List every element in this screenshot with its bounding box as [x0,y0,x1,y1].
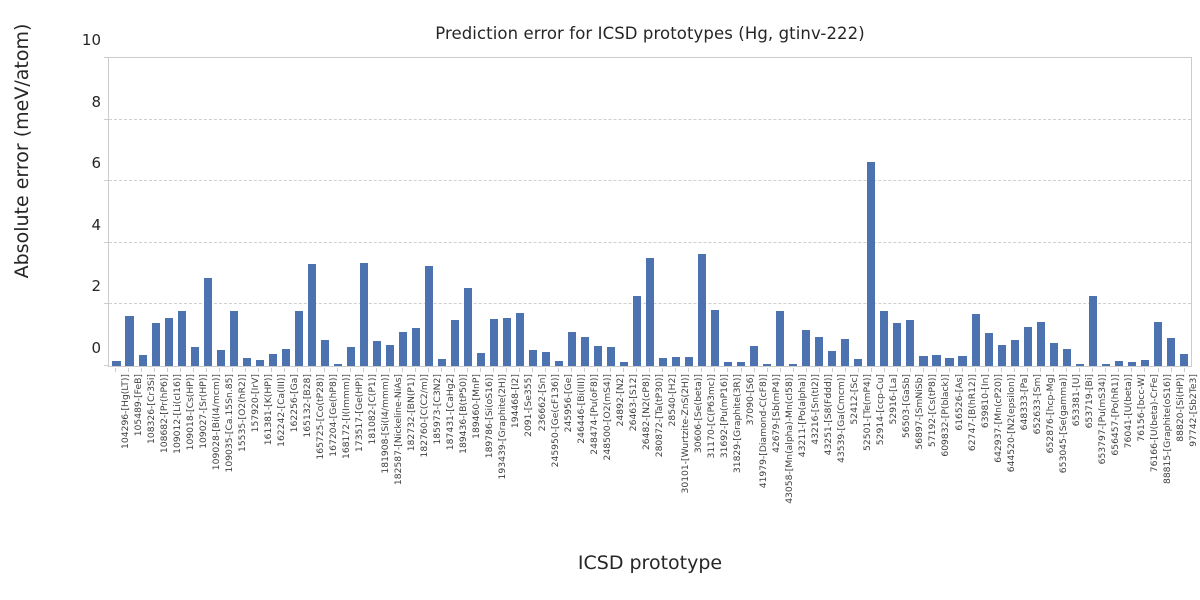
x-tick-mark [832,368,833,372]
bar[interactable] [1024,327,1032,366]
bar-slot [253,58,266,366]
x-tick [1112,368,1125,370]
bar-slot [1073,58,1086,366]
x-tick-mark [1158,368,1159,372]
bar[interactable] [1076,364,1084,366]
x-tick-label-slot: 648333-[Pa] [1008,374,1021,544]
bar[interactable] [516,313,524,366]
x-tick-label-slot: 31692-[Pu(mP16)] [708,374,721,544]
x-tick [1008,368,1021,370]
bar-slot [839,58,852,366]
x-tick-mark [636,368,637,372]
x-tick-mark [845,368,846,372]
bar[interactable] [607,347,615,366]
x-tick [304,368,317,370]
x-tick-mark [884,368,885,372]
x-tick-mark [806,368,807,372]
x-tick-mark [571,368,572,372]
bar-slot [800,58,813,366]
bar-slot [461,58,474,366]
x-tick-mark [988,368,989,372]
x-tick-mark [1040,368,1041,372]
bar[interactable] [750,346,758,366]
bar-slot [318,58,331,366]
x-tick-label-slot: 173517-[Ge(HP)] [344,374,357,544]
x-tick-mark [610,368,611,372]
bar[interactable] [802,330,810,366]
bar[interactable] [373,341,381,366]
bar-slot [956,58,969,366]
x-tick-label-slot: 52914-[ccp-Cu] [865,374,878,544]
bar[interactable] [217,350,225,366]
bar-slot [670,58,683,366]
bar[interactable] [581,337,589,366]
x-tick [1047,368,1060,370]
x-tick-mark [350,368,351,372]
bar[interactable] [555,361,563,366]
bar-slot [396,58,409,366]
x-tick-label-slot: 43216-[Sn(tI2)] [800,374,813,544]
bar-slot [943,58,956,366]
bar[interactable] [724,362,732,366]
x-tick-label-slot: 248474-[Pu(oF8)] [578,374,591,544]
x-tick-label-slot: 97742-[Sb2Te3] [1178,374,1191,544]
bar[interactable] [295,311,303,366]
bar-slot [123,58,136,366]
x-tick [761,368,774,370]
x-tick-label-slot: 26463-[S12] [617,374,630,544]
bar-slot [540,58,553,366]
bar-slot [761,58,774,366]
x-tick-label-slot: 167204-[Ge(hP8)] [318,374,331,544]
bar[interactable] [1089,296,1097,366]
x-tick [513,368,526,370]
x-tick-label-slot: 76166-[U(beta)-CrFe] [1138,374,1151,544]
bar[interactable] [1167,338,1175,366]
x-tick-mark [701,368,702,372]
bar-slot [344,58,357,366]
bar-slot [1177,58,1190,366]
bar[interactable] [269,354,277,366]
x-tick [487,368,500,370]
bar[interactable] [1141,360,1149,366]
bar[interactable] [932,355,940,366]
x-tick-mark [389,368,390,372]
bar-slot [214,58,227,366]
bar[interactable] [620,362,628,366]
x-tick-mark [337,368,338,372]
bar[interactable] [1128,362,1136,366]
bar[interactable] [893,323,901,366]
x-tick-label-slot: 161381-[K(HP)] [252,374,265,544]
x-tick-mark [1144,368,1145,372]
x-tick [969,368,982,370]
bar-slot [813,58,826,366]
x-tick-mark [297,368,298,372]
bar[interactable] [854,359,862,366]
bar[interactable] [282,349,290,366]
bar[interactable] [711,310,719,366]
bar[interactable] [815,337,823,366]
x-tick-label-slot: 246446-[Bi(III)] [565,374,578,544]
bar-series [109,58,1191,366]
bar[interactable] [399,332,407,366]
x-tick [682,368,695,370]
bar[interactable] [360,263,368,366]
bar[interactable] [698,254,706,366]
x-tick-label-slot: 56897-[SmNiSb] [904,374,917,544]
bar-slot [383,58,396,366]
x-axis-tick-labels: 104296-[Hg(LT)]105489-[FeB]108326-[Cr3Si… [108,374,1192,544]
x-tick-label-slot: 162242-[Ca(III)] [265,374,278,544]
y-tick-label-2: 2 [61,277,101,295]
x-tick-label-slot: 157920-[IrV] [239,374,252,544]
bar[interactable] [958,356,966,366]
x-tick-mark [519,368,520,372]
chart-title: Prediction error for ICSD prototypes (Hg… [108,24,1192,43]
x-tick [787,368,800,370]
x-tick-label-slot: 653381-[U] [1060,374,1073,544]
x-tick-label-slot: 652876-[hcp-Mg] [1034,374,1047,544]
x-tick [995,368,1008,370]
x-tick-label-slot: 30101-[Wurtzite-ZnS(2H)] [669,374,682,544]
bar[interactable] [1154,322,1162,366]
x-tick [435,368,448,370]
bar[interactable] [1037,322,1045,366]
bar[interactable] [529,350,537,366]
x-tick [174,368,187,370]
x-tick [852,368,865,370]
bar[interactable] [542,352,550,366]
x-tick [500,368,513,370]
x-tick-label-slot: 2091-[Se355] [513,374,526,544]
bar[interactable] [347,347,355,366]
x-tick-mark [949,368,950,372]
x-tick [891,368,904,370]
x-tick [930,368,943,370]
x-tick-mark [532,368,533,372]
x-tick-label-slot: 76156-[bcc-W] [1125,374,1138,544]
x-tick-label-slot: 168172-[I(Immm)] [331,374,344,544]
x-tick [291,368,304,370]
bar[interactable] [985,333,993,366]
x-tick-label-slot: 185973-[C3N2] [422,374,435,544]
bar[interactable] [464,288,472,366]
x-tick-mark [480,368,481,372]
x-tick [278,368,291,370]
bar[interactable] [685,357,693,366]
bar[interactable] [191,347,199,366]
bar[interactable] [1102,364,1110,366]
x-tick [800,368,813,370]
x-tick-label-slot: 30606-[Se(beta)] [682,374,695,544]
bar[interactable] [256,360,264,366]
bar-slot [930,58,943,366]
x-tick-label-slot: 187431-[CaHg2] [435,374,448,544]
x-tick-label-slot: 189460-[MnP] [461,374,474,544]
bar[interactable] [737,362,745,366]
bar-slot [435,58,448,366]
x-tick [1086,368,1099,370]
x-tick-mark [871,368,872,372]
x-tick-label-slot: 181908-[Si(I4/mmm)] [370,374,383,544]
bar[interactable] [906,320,914,366]
bar-slot [1164,58,1177,366]
x-tick-label-slot: 43539-[Ga(Cmcm)] [826,374,839,544]
y-tick-label-4: 4 [61,216,101,234]
bar-slot [136,58,149,366]
x-tick-label-slot: 52501-[Te(mP4)] [852,374,865,544]
bar[interactable] [321,340,329,366]
bar-slot [513,58,526,366]
bar[interactable] [919,356,927,366]
x-tick [1165,368,1178,370]
x-tick-mark [141,368,142,372]
x-tick [591,368,604,370]
bar[interactable] [633,296,641,366]
x-tick-label-slot: 37090-[S6] [735,374,748,544]
bar[interactable] [646,258,654,366]
x-tick-label-slot: 43251-[S8(Fddd)] [813,374,826,544]
bar[interactable] [998,345,1006,366]
x-tick [617,368,630,370]
x-tick-mark [923,368,924,372]
x-tick-label-slot: 193439-[Graphite(2H)] [487,374,500,544]
x-tick-label-slot: 109012-[Li(cI16)] [161,374,174,544]
x-tick-mark [727,368,728,372]
bar[interactable] [438,359,446,366]
bar[interactable] [1050,343,1058,366]
bar-slot [878,58,891,366]
bar-slot [605,58,618,366]
x-tick [813,368,826,370]
x-tick-label-slot: 57192-[Cs(tP8)] [917,374,930,544]
x-tick-mark [936,368,937,372]
x-tick-mark [649,368,650,372]
x-axis-ticks [108,368,1192,370]
x-tick-label-slot: 108682-[Pr(hP6)] [148,374,161,544]
x-tick-label-slot: 31170-[C(P63mc)] [695,374,708,544]
x-tick-mark [1001,368,1002,372]
x-tick-mark [180,368,181,372]
x-tick-mark [115,368,116,372]
x-tick [1138,368,1151,370]
x-tick [122,368,135,370]
bar[interactable] [477,353,485,366]
x-tick [148,368,161,370]
y-tick-label-0: 0 [61,339,101,357]
x-tick [826,368,839,370]
x-tick-label-slot: 104296-[Hg(LT)] [109,374,122,544]
bar[interactable] [945,358,953,366]
bar-slot [592,58,605,366]
x-tick [943,368,956,370]
x-tick-mark [545,368,546,372]
bar-slot [240,58,253,366]
x-tick-label-slot: 616526-[As] [943,374,956,544]
x-tick [422,368,435,370]
x-tick-mark [1079,368,1080,372]
bar[interactable] [451,320,459,366]
bar[interactable] [412,328,420,367]
x-tick-label-slot: 236662-[Sn] [526,374,539,544]
x-tick-label-slot: 162256-[Ga] [278,374,291,544]
bar[interactable] [308,264,316,366]
x-tick-label-slot: 194468-[I2] [500,374,513,544]
bar[interactable] [165,318,173,366]
x-tick [161,368,174,370]
x-tick-mark [284,368,285,372]
bar[interactable] [828,351,836,366]
x-tick-mark [193,368,194,372]
bar[interactable] [594,346,602,366]
x-tick-mark [232,368,233,372]
bar[interactable] [1180,354,1188,366]
bar-slot [175,58,188,366]
x-tick-mark [754,368,755,372]
bar-slot [995,58,1008,366]
bar[interactable] [789,364,797,366]
x-tick-label-slot: 109027-[Sr(HP)] [187,374,200,544]
bar[interactable] [334,364,342,366]
bar[interactable] [568,332,576,366]
bar-slot [774,58,787,366]
x-tick [1034,368,1047,370]
bar-slot [474,58,487,366]
bar-slot [1112,58,1125,366]
bar-slot [657,58,670,366]
x-tick-mark [1171,368,1172,372]
bar[interactable] [490,319,498,366]
bar[interactable] [125,316,133,366]
x-tick [604,368,617,370]
x-tick-label-slot: 248500-[O2(mS4)] [591,374,604,544]
bar-slot [1125,58,1138,366]
bar-slot [1060,58,1073,366]
x-tick-mark [428,368,429,372]
x-tick [252,368,265,370]
bar-slot [696,58,709,366]
bar[interactable] [425,266,433,366]
x-tick [383,368,396,370]
x-tick [448,368,461,370]
x-tick-label-slot: 652633-[Sm] [1021,374,1034,544]
bar[interactable] [841,339,849,366]
bar[interactable] [1011,340,1019,366]
bar[interactable] [672,357,680,366]
x-tick [904,368,917,370]
bar-slot [852,58,865,366]
bar[interactable] [152,323,160,366]
x-tick-mark [1014,368,1015,372]
bar[interactable] [867,162,875,366]
bar[interactable] [112,361,120,366]
x-tick-mark [1066,368,1067,372]
x-tick-mark [975,368,976,372]
x-tick-label-slot: 24892-[N2] [604,374,617,544]
x-tick-mark [324,368,325,372]
x-tick-mark [271,368,272,372]
x-tick [1099,368,1112,370]
x-tick [565,368,578,370]
x-tick-mark [167,368,168,372]
bar-slot [162,58,175,366]
x-tick-mark [910,368,911,372]
bar-slot [566,58,579,366]
x-tick-label-slot: 182760-[C(C2/m)] [409,374,422,544]
x-tick-mark [206,368,207,372]
x-tick-label-slot: 656457-[Po(hR1)] [1099,374,1112,544]
x-tick-label-slot: 88820-[Si(HP)] [1165,374,1178,544]
bar-slot [1086,58,1099,366]
x-tick-label-slot: 653797-[Pu(mS34)] [1086,374,1099,544]
bar[interactable] [659,358,667,366]
x-tick-label-slot: 76041-[U(beta)] [1112,374,1125,544]
bar[interactable] [204,278,212,366]
bar[interactable] [972,314,980,366]
x-tick-label-slot: 182732-[BN(P1)] [396,374,409,544]
bar-slot [982,58,995,366]
y-tick-label-8: 8 [61,93,101,111]
x-tick [669,368,682,370]
x-tick-mark [415,368,416,372]
x-tick [643,368,656,370]
x-tick-label-slot: 653719-[Bi] [1073,374,1086,544]
bar[interactable] [1115,361,1123,366]
y-tick-label-6: 6 [61,154,101,172]
x-tick [982,368,995,370]
bar[interactable] [503,318,511,366]
bar[interactable] [880,311,888,366]
x-tick-label-slot: 182587-[Nickeline-NiAs] [383,374,396,544]
x-tick [344,368,357,370]
x-tick [539,368,552,370]
bar[interactable] [230,311,238,366]
x-tick-label-slot: 41979-[Diamond-C(cF8)] [748,374,761,544]
x-tick [721,368,734,370]
x-tick-label-slot: 62747-[B(hR12)] [956,374,969,544]
bar-slot [266,58,279,366]
y-axis-label: Absolute error (meV/atom) [11,0,33,431]
bar[interactable] [763,364,771,366]
bar-slot [748,58,761,366]
bar[interactable] [386,345,394,366]
x-tick-label-slot: 165132-[B28] [291,374,304,544]
x-tick-label-slot: 181082-[C(P1)] [357,374,370,544]
bar-slot [904,58,917,366]
bar-slot [331,58,344,366]
bar-slot [448,58,461,366]
x-tick [865,368,878,370]
x-tick-mark [441,368,442,372]
bar[interactable] [178,311,186,366]
bar-slot [891,58,904,366]
bar-slot [618,58,631,366]
bar[interactable] [243,358,251,366]
y-tick-label-10: 10 [61,31,101,49]
bar[interactable] [139,355,147,366]
x-tick [839,368,852,370]
bar[interactable] [1063,349,1071,366]
x-tick-label-slot: 642937-[Mn(cP20)] [982,374,995,544]
x-tick-label-slot: 43058-[Mn(alpha)-Mn(cI58)] [774,374,787,544]
x-tick-mark [819,368,820,372]
x-tick [630,368,643,370]
x-tick [708,368,721,370]
x-tick-mark [245,368,246,372]
bar[interactable] [776,311,784,366]
x-tick [917,368,930,370]
